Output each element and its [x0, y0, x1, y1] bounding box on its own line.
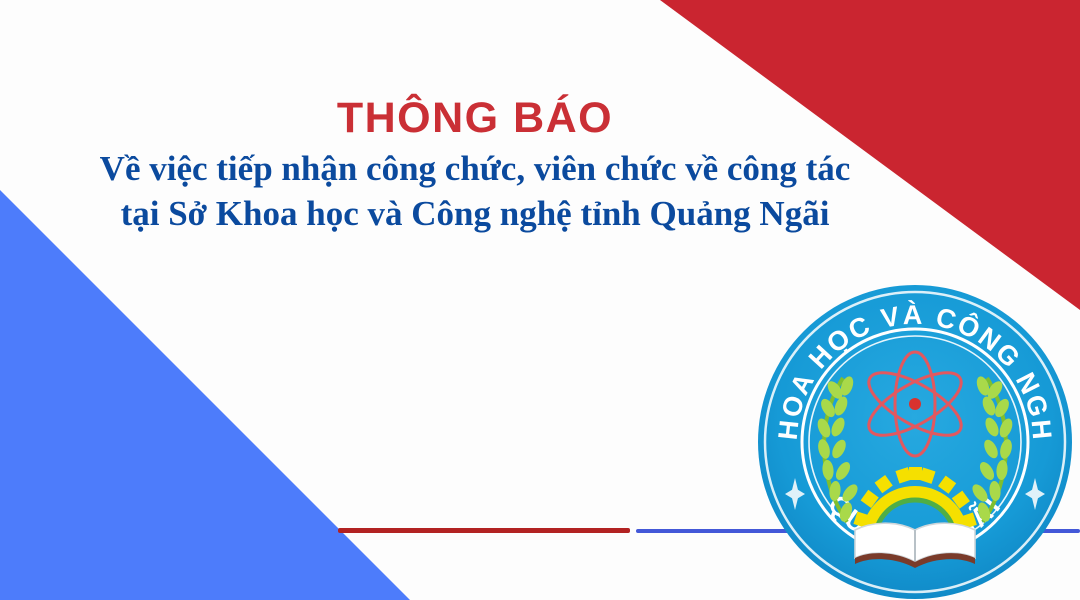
- announcement-banner: THÔNG BÁO Về việc tiếp nhận công chức, v…: [0, 0, 1080, 600]
- atom-nucleus-icon: [909, 398, 921, 410]
- subtitle-line-2: tại Sở Khoa học và Công nghệ tỉnh Quảng …: [0, 192, 950, 237]
- page-title: THÔNG BÁO: [0, 96, 950, 141]
- heading-block: THÔNG BÁO Về việc tiếp nhận công chức, v…: [0, 96, 950, 237]
- organization-emblem: KHOA HỌC VÀ CÔNG NGHỆ QUẢNG NGÃI: [755, 282, 1075, 600]
- blue-diagonal-wedge: [0, 190, 410, 600]
- red-rule-divider: [338, 528, 630, 533]
- subtitle-line-1: Về việc tiếp nhận công chức, viên chức v…: [0, 147, 950, 192]
